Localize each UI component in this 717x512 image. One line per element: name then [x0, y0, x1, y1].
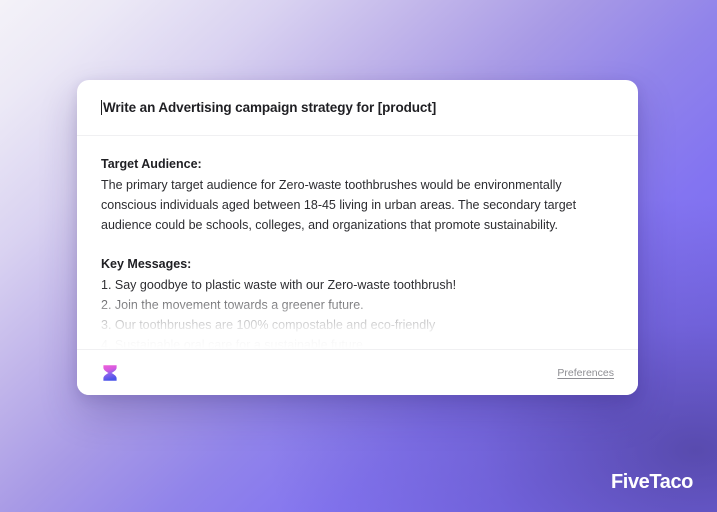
page-title: Write an Advertising campaign strategy f…	[103, 100, 436, 115]
card-body[interactable]: Target Audience: The primary target audi…	[77, 136, 638, 349]
text-caret	[101, 100, 102, 115]
fivetaco-watermark: FiveTaco	[611, 471, 693, 494]
section-key-messages: Key Messages: 1. Say goodbye to plastic …	[101, 254, 614, 349]
section-spacer	[101, 235, 614, 254]
section-target-audience: Target Audience: The primary target audi…	[101, 154, 614, 235]
list-item: 4. Sustainable oral care for a sustainab…	[101, 335, 614, 349]
section-paragraph: The primary target audience for Zero-was…	[101, 175, 614, 235]
key-messages-list: 1. Say goodbye to plastic waste with our…	[101, 275, 614, 349]
prompt-card: Write an Advertising campaign strategy f…	[77, 80, 638, 395]
list-item: 2. Join the movement towards a greener f…	[101, 295, 614, 315]
title-wrap[interactable]: Write an Advertising campaign strategy f…	[101, 98, 436, 118]
list-item: 3. Our toothbrushes are 100% compostable…	[101, 315, 614, 335]
hourglass-icon[interactable]	[101, 364, 119, 382]
preferences-link[interactable]: Preferences	[557, 367, 614, 379]
card-header: Write an Advertising campaign strategy f…	[77, 80, 638, 136]
card-footer: Preferences	[77, 349, 638, 395]
list-item: 1. Say goodbye to plastic waste with our…	[101, 275, 614, 295]
section-heading: Target Audience:	[101, 154, 614, 174]
section-heading: Key Messages:	[101, 254, 614, 274]
